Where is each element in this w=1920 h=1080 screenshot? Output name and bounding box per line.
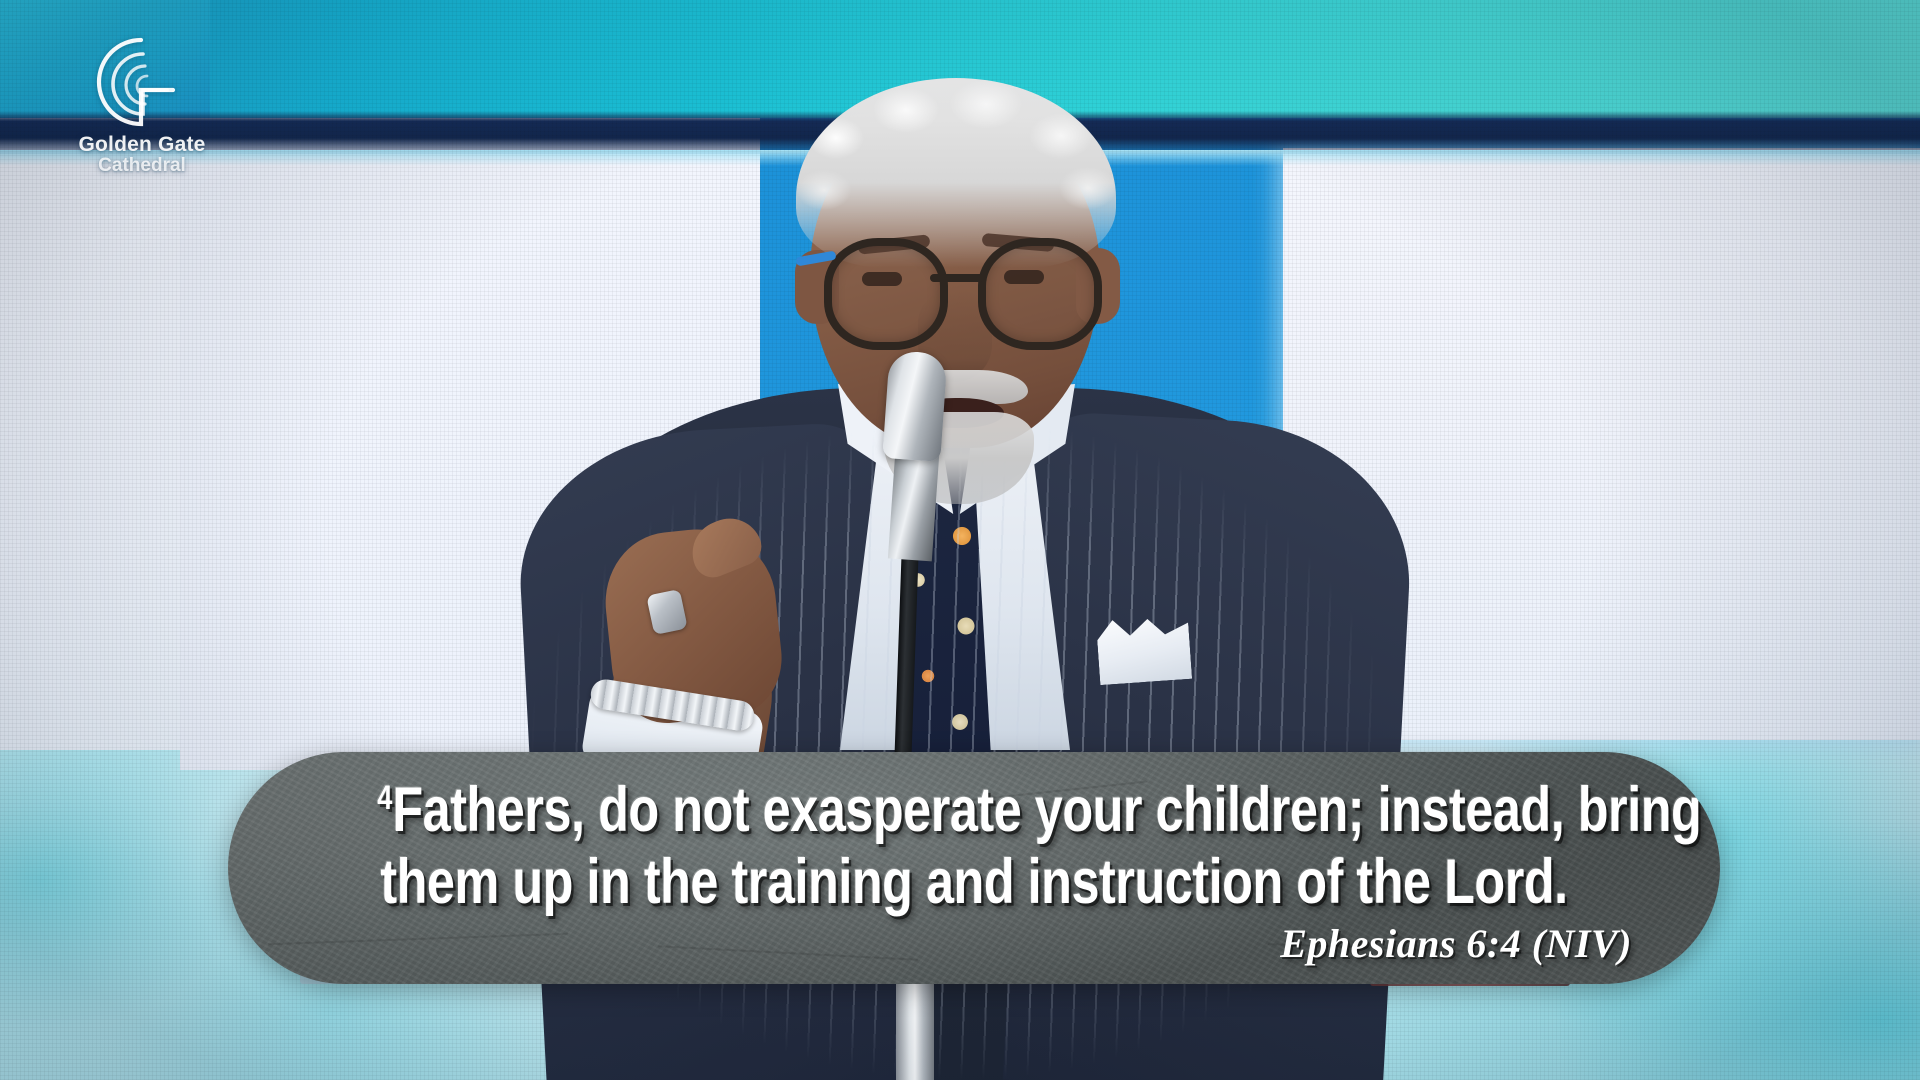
logo-name: Golden Gate <box>42 134 242 156</box>
scripture-verse-text: 4Fathers, do not exasperate your childre… <box>377 762 1571 918</box>
scripture-reference: Ephesians 6:4 (NIV) <box>1280 920 1632 967</box>
caption-content: 4Fathers, do not exasperate your childre… <box>228 752 1720 984</box>
verse-line-1-text: Fathers, do not exasperate your children… <box>392 775 1701 845</box>
scripture-caption-bar: 4Fathers, do not exasperate your childre… <box>228 752 1720 984</box>
verse-line-2: them up in the training and instruction … <box>377 846 1571 918</box>
verse-number: 4 <box>377 779 392 817</box>
broadcast-frame: Golden Gate Cathedral 4Fathers, do not e… <box>0 0 1920 1080</box>
verse-line-1: 4Fathers, do not exasperate your childre… <box>377 762 1571 846</box>
concentric-g-ring-logo-icon <box>87 34 197 130</box>
logo-subtitle: Cathedral <box>42 156 242 177</box>
channel-logo-bug: Golden Gate Cathedral <box>42 34 242 194</box>
